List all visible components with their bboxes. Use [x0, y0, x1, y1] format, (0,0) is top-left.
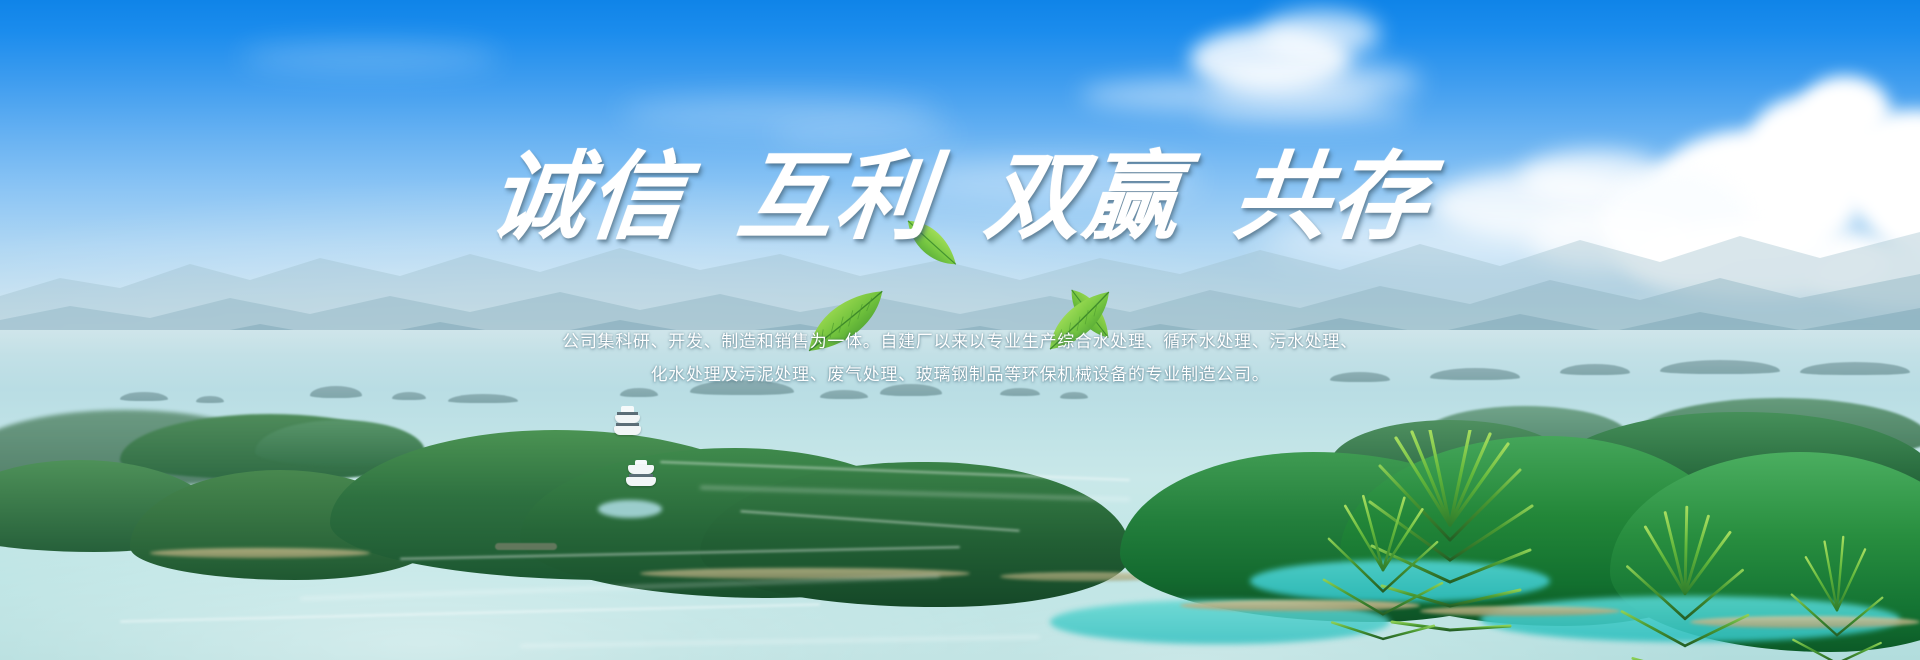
hero-banner: 诚信 互利 双赢 共存 公司集科研、开发、制造和销售为一体。自建厂以来以专业生产…: [0, 0, 1920, 660]
subtitle-line-2: 化水处理及污泥处理、废气处理、玻璃钢制品等环保机械设备的专业制造公司。: [0, 360, 1920, 385]
subtitle-line-1: 公司集科研、开发、制造和销售为一体。自建厂以来以专业生产综合水处理、循环水处理、…: [0, 327, 1920, 352]
floating-debris: [495, 543, 557, 550]
ferry-boat-upper: [612, 406, 644, 440]
page-title: 诚信 互利 双赢 共存: [0, 150, 1920, 246]
ferry-boat-lower: [625, 460, 659, 492]
